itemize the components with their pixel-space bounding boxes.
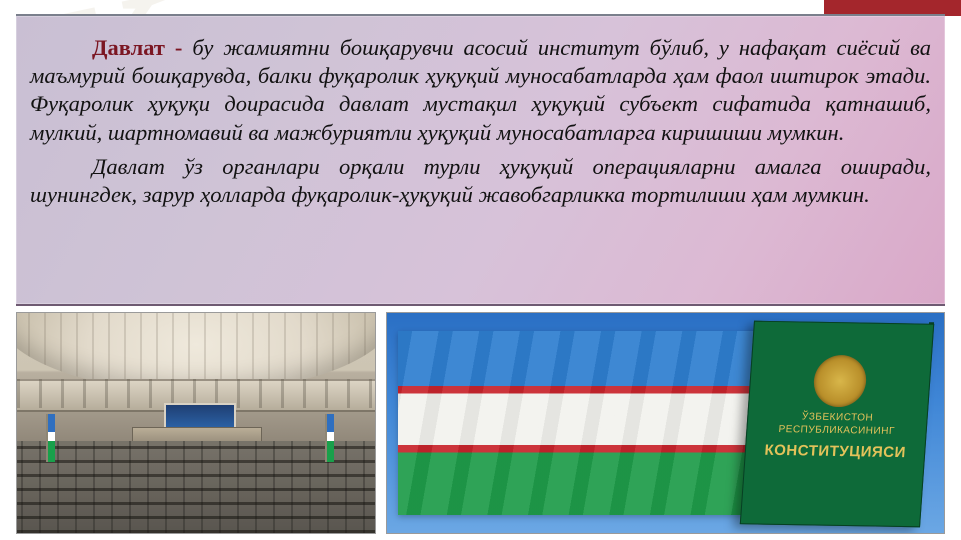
seat-rows — [16, 441, 376, 533]
hall-flag-right-icon — [325, 414, 334, 462]
paragraph-2: Давлат ўз органлари орқали турли ҳуқуқий… — [30, 153, 931, 209]
flag-scene: ★ ★ ★ ★ ★ ★ ★ ★ ★ ★ ★ ★ — [387, 313, 944, 533]
flag-wave-shading — [398, 331, 766, 516]
images-row: газета.uz ★ ★ ★ ★ ★ ★ ★ ★ ★ — [16, 312, 945, 534]
hall-flag-left-icon — [46, 414, 55, 462]
paragraph-1: Давлат - бу жамиятни бошқарувчи асосий и… — [30, 34, 931, 147]
book-title-line-2: РЕСПУБЛИКАСИНИНГ — [747, 423, 926, 437]
constitution-book: ЎЗБЕКИСТОН РЕСПУБЛИКАСИНИНГ КОНСТИТУЦИЯС… — [740, 320, 935, 527]
uzbekistan-flag: ★ ★ ★ ★ ★ ★ ★ ★ ★ ★ ★ ★ — [398, 331, 766, 516]
book-title: ЎЗБЕКИСТОН РЕСПУБЛИКАСИНИНГ КОНСТИТУЦИЯС… — [745, 410, 927, 461]
text-panel: Давлат - бу жамиятни бошқарувчи асосий и… — [16, 14, 945, 306]
uzbekistan-flag-constitution-photo: ★ ★ ★ ★ ★ ★ ★ ★ ★ ★ ★ ★ — [386, 312, 945, 534]
parliament-hall-photo: газета.uz — [16, 312, 376, 534]
state-emblem-icon — [812, 355, 868, 408]
book-title-line-3: КОНСТИТУЦИЯСИ — [745, 441, 925, 461]
slide-canvas: К О Давлат - бу жамиятни бошқарувчи асос… — [0, 0, 961, 540]
hall-illustration — [17, 313, 375, 533]
book-title-line-1: ЎЗБЕКИСТОН — [748, 410, 927, 424]
lead-term: Давлат - — [92, 35, 192, 60]
